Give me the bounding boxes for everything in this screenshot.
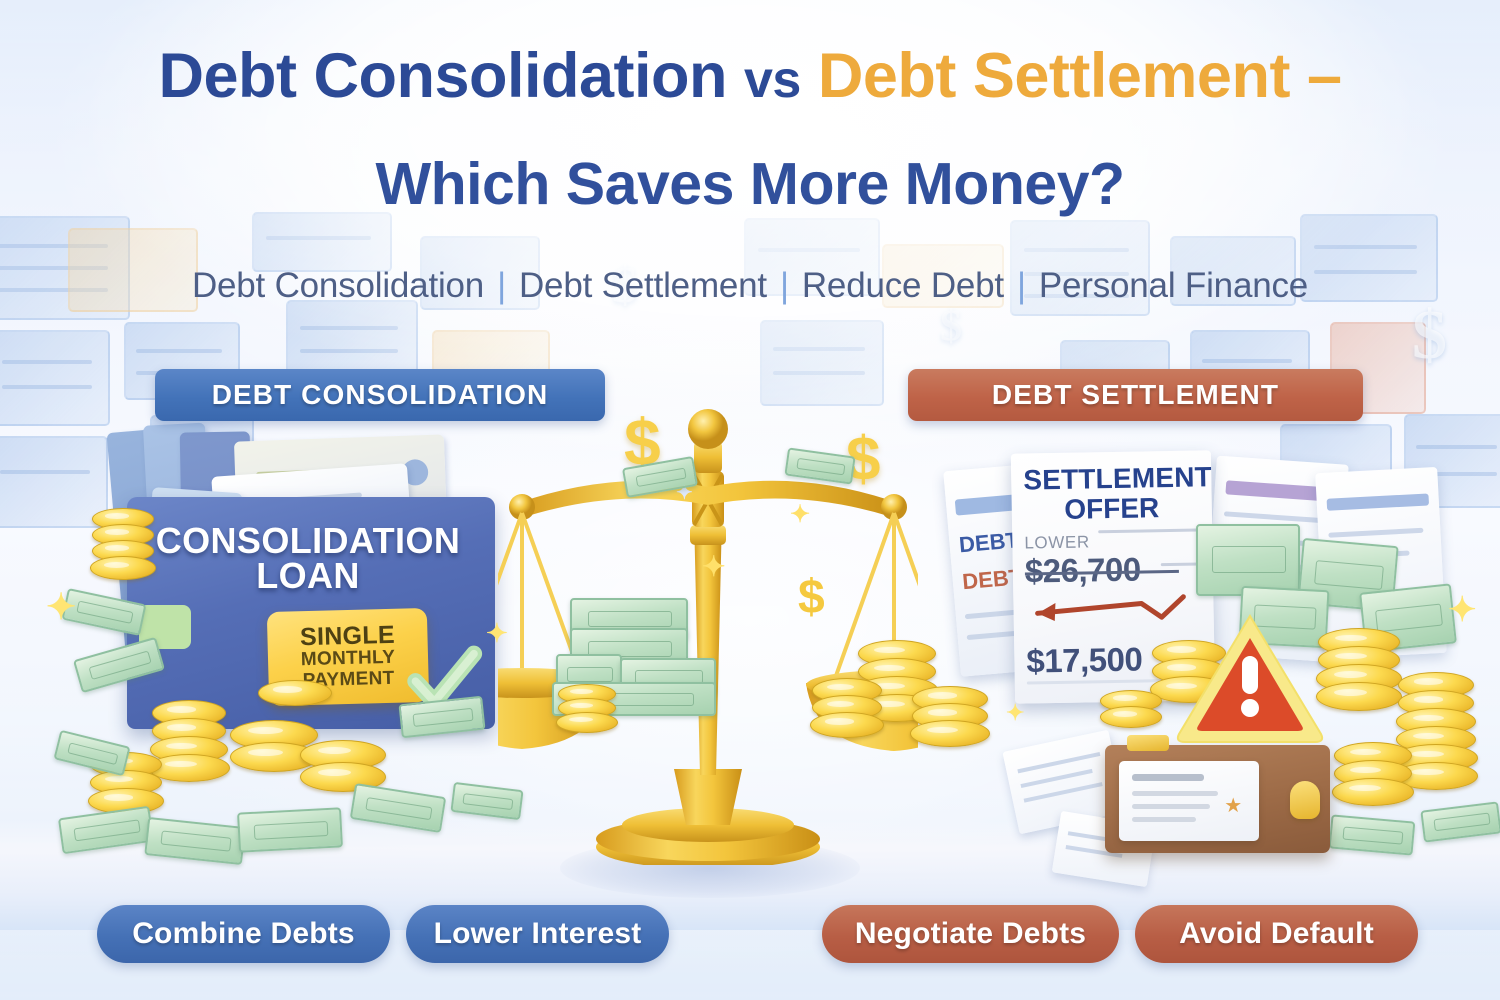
- warning-triangle-icon: [1175, 612, 1325, 744]
- pill-negotiate-debts[interactable]: Negotiate Debts: [822, 905, 1119, 963]
- title-vs: vs: [744, 51, 801, 109]
- tagline-item-3: Personal Finance: [1039, 266, 1308, 305]
- folder-title-line1: CONSOLIDATION: [127, 523, 489, 558]
- sparkle-icon: ✦: [1448, 590, 1477, 630]
- tagline-separator: |: [497, 266, 506, 305]
- badge-debt-settlement: DEBT SETTLEMENT: [908, 369, 1363, 421]
- pill-avoid-default[interactable]: Avoid Default: [1135, 905, 1418, 963]
- amount-original: $26,700: [1025, 550, 1202, 589]
- offer-title-line2: OFFER: [1024, 493, 1200, 524]
- sparkle-icon: ✦: [790, 500, 810, 529]
- bg-doc-label: DEBT: [958, 527, 1020, 558]
- dollar-sign-icon: $: [798, 570, 825, 625]
- sticker-line1: SINGLE: [300, 623, 395, 650]
- pill-lower-interest[interactable]: Lower Interest: [406, 905, 669, 963]
- tagline-item-1: Debt Settlement: [519, 266, 767, 305]
- pill-combine-debts[interactable]: Combine Debts: [97, 905, 390, 963]
- infographic-canvas: $ $ $ Debt Consolidation vs Debt Settlem…: [0, 0, 1500, 1000]
- sparkle-icon: ✦: [702, 550, 725, 583]
- sparkle-icon: ✦: [46, 586, 76, 628]
- sparkle-icon: ✦: [1006, 700, 1024, 726]
- badge-debt-consolidation: DEBT CONSOLIDATION: [155, 369, 605, 421]
- page-title: Debt Consolidation vs Debt Settlement –: [0, 44, 1500, 108]
- title-dash: –: [1307, 41, 1342, 111]
- briefcase-icon: ★: [1105, 745, 1330, 853]
- title-part-settlement: Debt Settlement: [818, 41, 1290, 111]
- title-part-consolidation: Debt Consolidation: [159, 41, 727, 111]
- tagline: Debt Consolidation|Debt Settlement|Reduc…: [0, 266, 1500, 306]
- tagline-item-0: Debt Consolidation: [192, 266, 484, 305]
- offer-title-line1: SETTLEMENT: [1023, 464, 1199, 494]
- tagline-separator: |: [780, 266, 789, 305]
- tagline-item-2: Reduce Debt: [802, 266, 1004, 305]
- page-subtitle: Which Saves More Money?: [0, 150, 1500, 218]
- decrease-arrow-icon: [1023, 591, 1194, 630]
- folder-title-line2: LOAN: [127, 558, 489, 593]
- tagline-separator: |: [1017, 266, 1026, 305]
